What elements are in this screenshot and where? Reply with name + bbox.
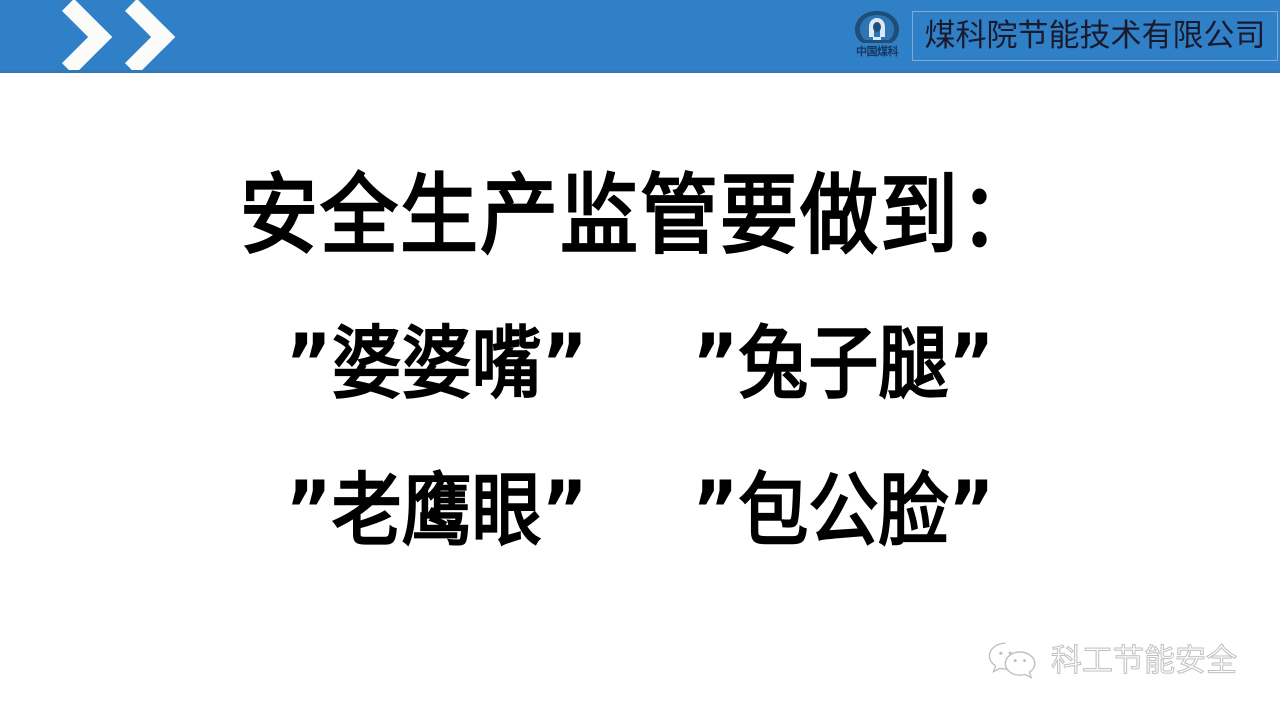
watermark-label: 科工节能安全 [1051,643,1237,679]
company-name-textbox[interactable]: 煤科院节能技术有限公司 [912,11,1278,61]
phrase-row-2: ”老鹰眼” ”包公脸” [0,465,1280,556]
chevron-right-icon-2 [99,0,175,73]
company-logo: 中国煤科 [846,9,908,67]
company-name-text: 煤科院节能技术有限公司 [925,19,1266,53]
wechat-watermark: 科工节能安全 [985,639,1237,683]
slide-body: 安全生产监管要做到： ”婆婆嘴” ”兔子腿” ”老鹰眼” ”包公脸” [0,73,1280,720]
phrase-2-left: ”老鹰眼” [286,464,588,557]
coal-science-emblem-icon [852,9,902,45]
logo-caption: 中国煤科 [846,45,908,58]
phrase-row-1: ”婆婆嘴” ”兔子腿” [0,318,1280,409]
phrase-1-right: ”兔子腿” [692,317,994,410]
slide-title: 安全生产监管要做到： [0,166,1280,267]
phrase-1-left: ”婆婆嘴” [286,317,588,410]
slide: 中国煤科 煤科院节能技术有限公司 安全生产监管要做到： ”婆婆嘴” ”兔子腿” … [0,0,1280,720]
phrase-2-right: ”包公脸” [692,464,994,557]
wechat-icon [985,639,1041,683]
